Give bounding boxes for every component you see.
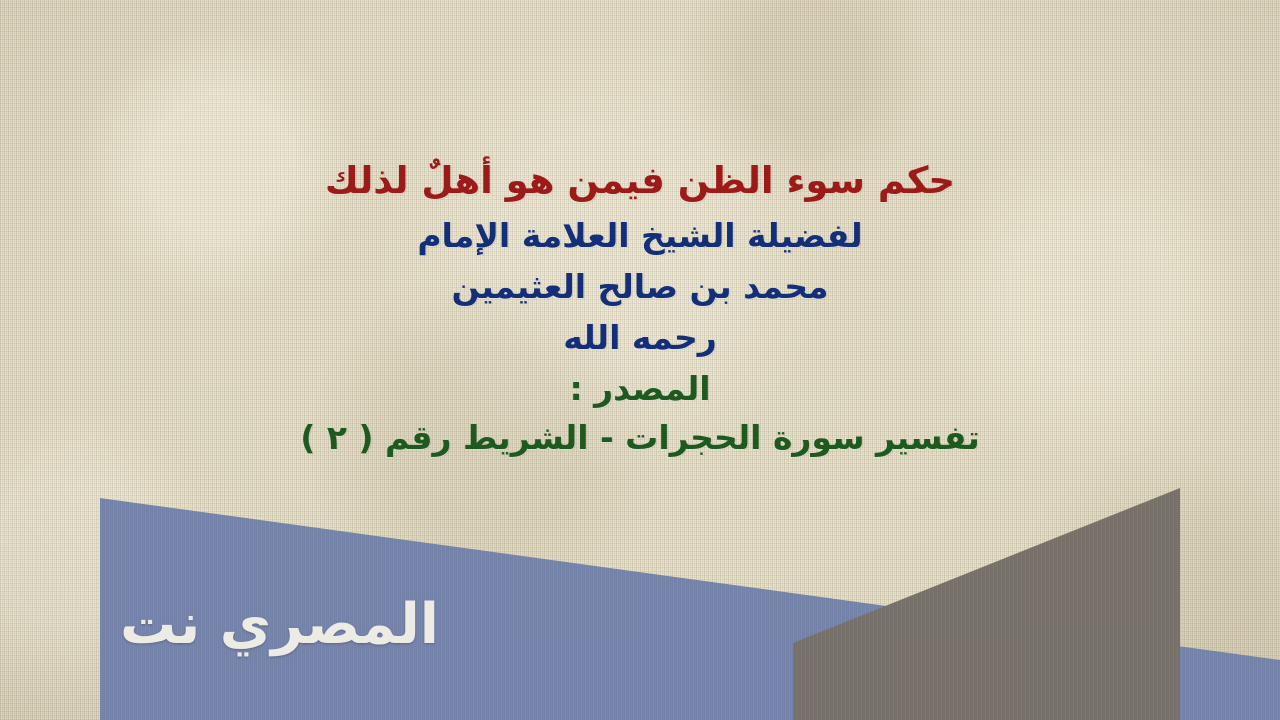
slide-line-ruling-title: حكم سوء الظن فيمن هو أهلٌ لذلك (0, 162, 1280, 219)
slide-line-source-reference: تفسير سورة الحجرات - الشريط رقم ( ٢ ) (0, 421, 1280, 454)
slide-line-source-label: المصدر : (0, 372, 1280, 421)
slide-line-blessing: رحمه الله (0, 321, 1280, 372)
slide-text-block: حكم سوء الظن فيمن هو أهلٌ لذلك لفضيلة ال… (0, 162, 1280, 454)
slide-canvas: حكم سوء الظن فيمن هو أهلٌ لذلك لفضيلة ال… (0, 0, 1280, 720)
gray-triangle-shape (793, 488, 1180, 720)
slide-line-scholar-name: محمد بن صالح العثيمين (0, 270, 1280, 321)
slide-line-honorific: لفضيلة الشيخ العلامة الإمام (0, 219, 1280, 270)
site-watermark: المصري نت (120, 592, 439, 657)
